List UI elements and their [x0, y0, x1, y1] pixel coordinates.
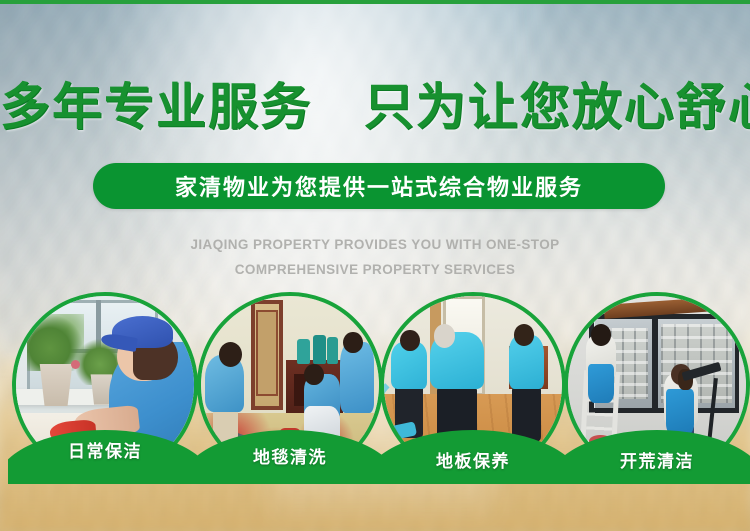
top-accent-rule [0, 0, 750, 4]
headline: 多年专业服务 只为让您放心舒心 [0, 82, 750, 132]
english-subtitle-line-2: COMPREHENSIVE PROPERTY SERVICES [0, 258, 750, 283]
service-item-post-construction-cleaning[interactable]: 开荒清洁 [564, 292, 750, 478]
service-label-daily-cleaning: 日常保洁 [12, 437, 198, 462]
headline-part-2: 只为让您放心舒心 [364, 79, 750, 135]
service-label-post-construction-cleaning: 开荒清洁 [564, 447, 750, 472]
english-subtitle-line-1: JIAQING PROPERTY PROVIDES YOU WITH ONE-S… [0, 233, 750, 258]
english-subtitle: JIAQING PROPERTY PROVIDES YOU WITH ONE-S… [0, 233, 750, 283]
service-item-daily-cleaning[interactable]: 日常保洁 [12, 292, 198, 478]
subheadline-pill-text: 家清物业为您提供一站式综合物业服务 [175, 170, 583, 202]
service-circles-row: 日常保洁 [0, 288, 750, 488]
service-item-floor-maintenance[interactable]: 地板保养 [380, 292, 566, 478]
service-item-carpet-cleaning[interactable]: 地毯清洗 [197, 292, 383, 478]
headline-part-1: 多年专业服务 [0, 79, 312, 135]
service-promo-banner: 多年专业服务 只为让您放心舒心 家清物业为您提供一站式综合物业服务 JIAQIN… [0, 0, 750, 531]
subheadline-pill: 家清物业为您提供一站式综合物业服务 [93, 163, 665, 209]
service-label-carpet-cleaning: 地毯清洗 [197, 443, 383, 468]
service-label-floor-maintenance: 地板保养 [380, 447, 566, 472]
